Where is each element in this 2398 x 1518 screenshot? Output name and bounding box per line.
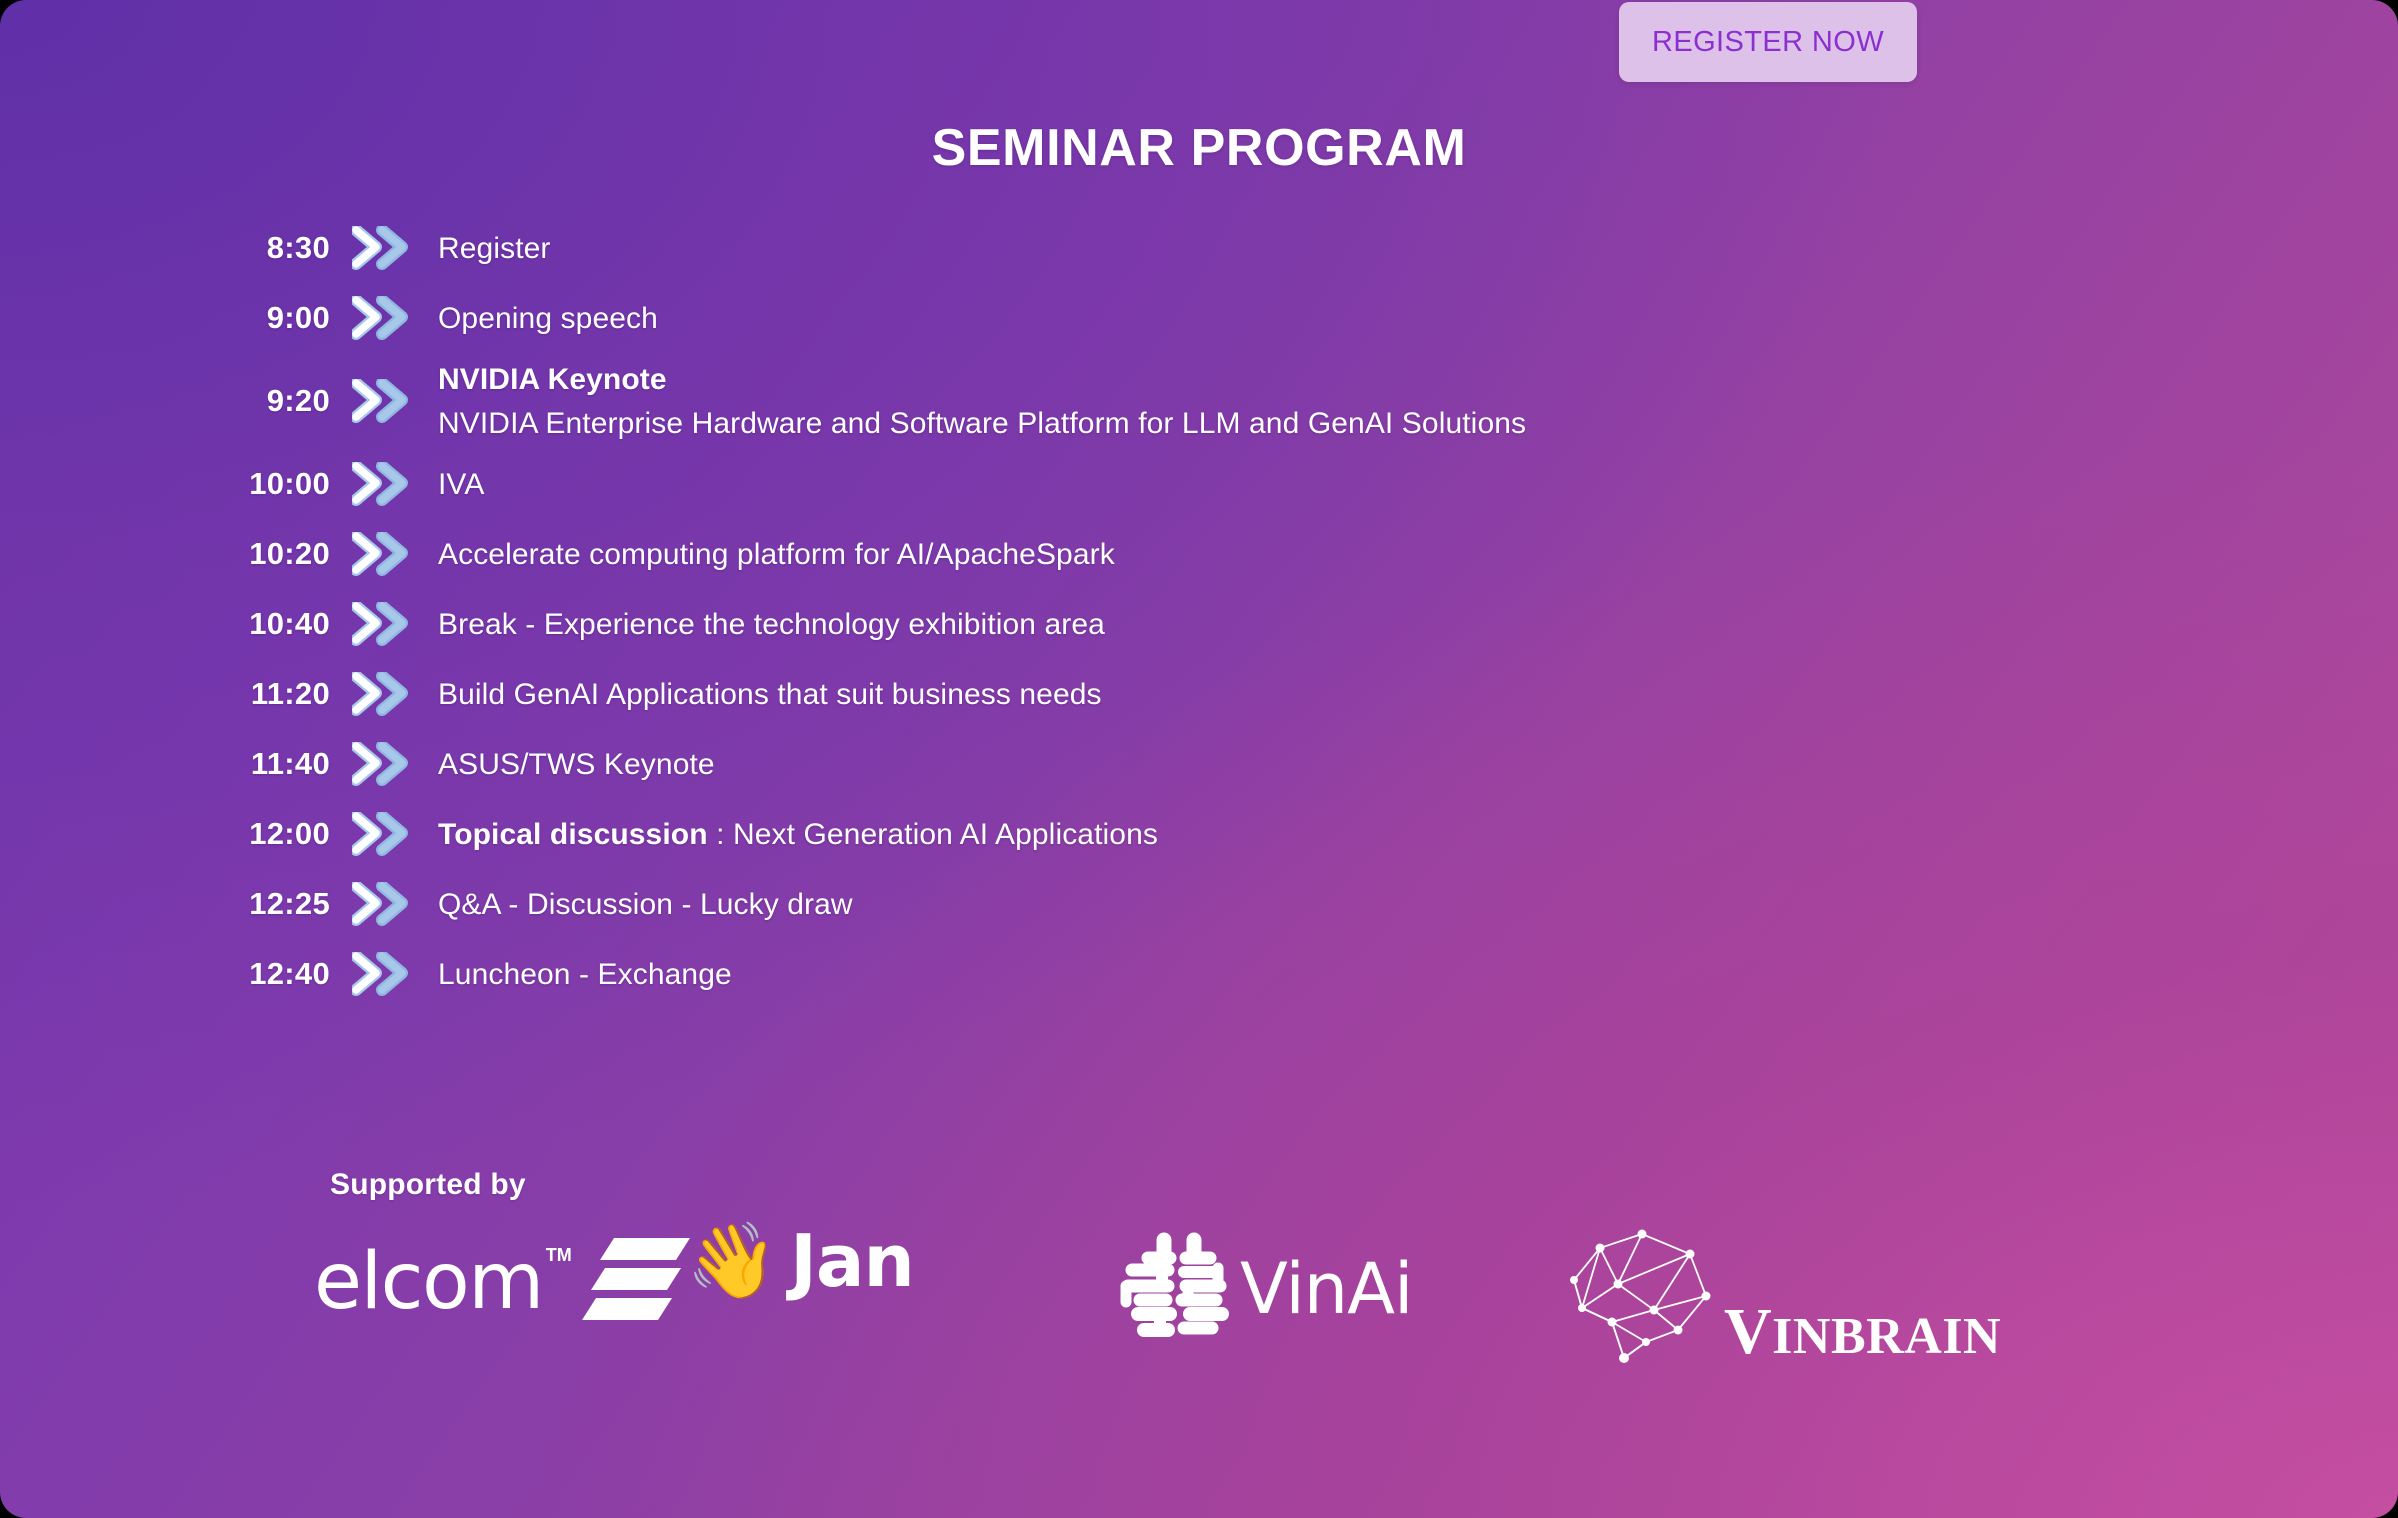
schedule-row: 12:40Luncheon - Exchange — [0, 939, 2398, 1009]
schedule-description-text: Register — [438, 232, 551, 265]
vinbrain-initial: V — [1724, 1295, 1772, 1368]
double-chevron-icon — [330, 812, 418, 856]
double-chevron-icon — [330, 602, 418, 646]
sponsor-logos: elcom TM 👋 Jan — [300, 1218, 2180, 1358]
waving-hand-emoji-icon: 👋 — [686, 1224, 778, 1298]
double-chevron-icon — [330, 952, 418, 996]
schedule-description-text: Break - Experience the technology exhibi… — [438, 608, 1105, 641]
schedule-description-text: Accelerate computing platform for AI/Apa… — [438, 538, 1115, 571]
schedule-row: 12:00Topical discussion : Next Generatio… — [0, 799, 2398, 869]
schedule-time: 9:20 — [0, 383, 330, 419]
schedule-description-text: ASUS/TWS Keynote — [438, 748, 715, 781]
double-chevron-icon — [330, 462, 418, 506]
schedule-description-text: Q&A - Discussion - Lucky draw — [438, 888, 853, 921]
schedule-description-bold: Topical discussion — [438, 818, 708, 851]
trademark-symbol: TM — [546, 1245, 572, 1266]
schedule-description: NVIDIA KeynoteNVIDIA Enterprise Hardware… — [418, 360, 2398, 443]
schedule-row: 9:00Opening speech — [0, 283, 2398, 353]
schedule-description: Break - Experience the technology exhibi… — [418, 605, 2398, 644]
schedule-time: 12:00 — [0, 816, 330, 852]
schedule-row: 10:40Break - Experience the technology e… — [0, 589, 2398, 659]
schedule-description-text: Opening speech — [438, 302, 658, 335]
elcom-bars-mark-icon — [580, 1236, 692, 1327]
double-chevron-icon — [330, 296, 418, 340]
schedule-description: IVA — [418, 465, 2398, 504]
schedule-list: 8:30Register9:00Opening speech9:20NVIDIA… — [0, 213, 2398, 1009]
vinai-circuit-mark-icon — [1118, 1228, 1230, 1349]
sponsor-logo-vinai[interactable]: VinAi — [1118, 1228, 1413, 1349]
vinai-wordmark: VinAi — [1240, 1254, 1413, 1324]
double-chevron-icon — [330, 226, 418, 270]
schedule-description: Topical discussion : Next Generation AI … — [418, 815, 2398, 854]
double-chevron-icon — [330, 742, 418, 786]
jan-wordmark: Jan — [790, 1225, 914, 1297]
sponsor-logo-elcom[interactable]: elcom TM — [314, 1236, 692, 1327]
register-now-button[interactable]: REGISTER NOW — [1619, 2, 1917, 82]
schedule-time: 12:40 — [0, 956, 330, 992]
schedule-row: 10:20Accelerate computing platform for A… — [0, 519, 2398, 589]
schedule-time: 10:20 — [0, 536, 330, 572]
schedule-description-bold: NVIDIA Keynote — [438, 363, 667, 396]
schedule-description: Luncheon - Exchange — [418, 955, 2398, 994]
double-chevron-icon — [330, 532, 418, 576]
schedule-description-text: Luncheon - Exchange — [438, 958, 732, 991]
schedule-row: 8:30Register — [0, 213, 2398, 283]
schedule-description: Register — [418, 229, 2398, 268]
schedule-description: Opening speech — [418, 299, 2398, 338]
schedule-row: 10:00IVA — [0, 449, 2398, 519]
vinbrain-brain-network-mark-icon — [1560, 1218, 1730, 1371]
vinbrain-rest: INBRAIN — [1772, 1308, 2001, 1365]
sponsor-logo-jan[interactable]: 👋 Jan — [686, 1224, 914, 1298]
schedule-description: Q&A - Discussion - Lucky draw — [418, 885, 2398, 924]
schedule-time: 11:20 — [0, 676, 330, 712]
schedule-time: 12:25 — [0, 886, 330, 922]
schedule-description-text: : Next Generation AI Applications — [708, 818, 1158, 851]
schedule-row: 11:40ASUS/TWS Keynote — [0, 729, 2398, 799]
double-chevron-icon — [330, 882, 418, 926]
page-title: SEMINAR PROGRAM — [0, 118, 2398, 178]
double-chevron-icon — [330, 379, 418, 423]
schedule-description: Accelerate computing platform for AI/Apa… — [418, 535, 2398, 574]
elcom-wordmark: elcom — [314, 1243, 543, 1321]
schedule-row: 9:20NVIDIA KeynoteNVIDIA Enterprise Hard… — [0, 353, 2398, 449]
schedule-row: 12:25Q&A - Discussion - Lucky draw — [0, 869, 2398, 939]
seminar-program-page: REGISTER NOW SEMINAR PROGRAM 8:30Registe… — [0, 0, 2398, 1518]
schedule-description: Build GenAI Applications that suit busin… — [418, 675, 2398, 714]
schedule-description-text: IVA — [438, 468, 484, 501]
sponsor-logo-vinbrain[interactable]: VINBRAIN — [1560, 1218, 2001, 1371]
double-chevron-icon — [330, 672, 418, 716]
vinbrain-wordmark: VINBRAIN — [1724, 1299, 2001, 1365]
supported-by-label: Supported by — [330, 1168, 526, 1202]
schedule-time: 10:40 — [0, 606, 330, 642]
schedule-row: 11:20Build GenAI Applications that suit … — [0, 659, 2398, 729]
schedule-time: 10:00 — [0, 466, 330, 502]
schedule-time: 9:00 — [0, 300, 330, 336]
schedule-description-text: Build GenAI Applications that suit busin… — [438, 678, 1102, 711]
schedule-time: 11:40 — [0, 746, 330, 782]
schedule-description-subline: NVIDIA Enterprise Hardware and Software … — [438, 404, 2398, 443]
schedule-time: 8:30 — [0, 230, 330, 266]
schedule-description: ASUS/TWS Keynote — [418, 745, 2398, 784]
